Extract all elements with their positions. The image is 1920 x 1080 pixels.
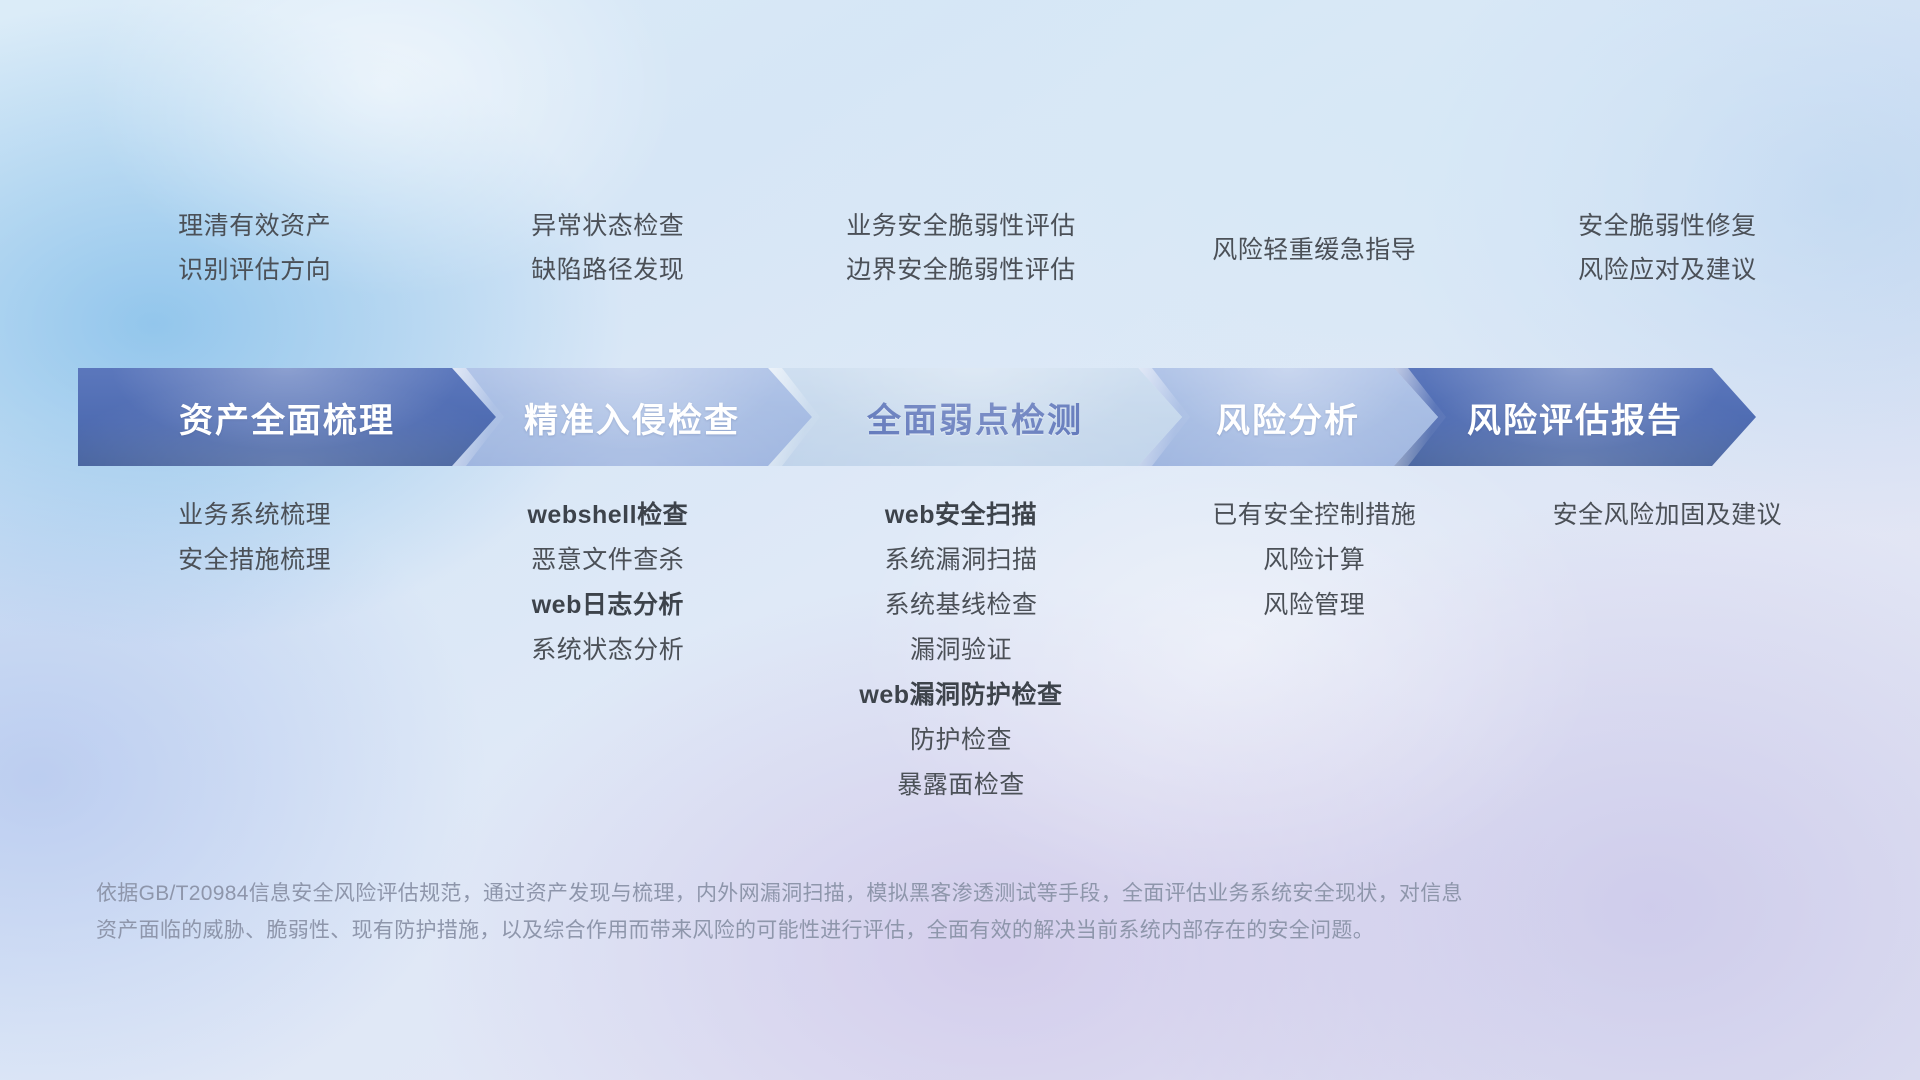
top-notes-risk-analysis: 风险轻重缓急指导 — [1138, 212, 1491, 285]
bottom-lists-row: 业务系统梳理 安全措施梳理 webshell检查 恶意文件查杀 web日志分析 … — [78, 500, 1844, 800]
chevron-stage-intrusion-check[interactable]: 精准入侵检查 — [452, 368, 812, 466]
list-item: 漏洞验证 — [910, 635, 1012, 665]
top-note: 异常状态检查 — [531, 212, 684, 242]
top-note: 业务安全脆弱性评估 — [846, 212, 1076, 242]
list-item: 系统基线检查 — [884, 590, 1037, 620]
top-note: 风险应对及建议 — [1578, 256, 1757, 286]
top-note: 理清有效资产 — [178, 212, 331, 242]
list-item: web日志分析 — [532, 590, 684, 620]
list-item: 已有安全控制措施 — [1212, 500, 1416, 530]
list-item: 系统状态分析 — [531, 635, 684, 665]
list-item: 安全措施梳理 — [178, 545, 331, 575]
top-notes-risk-report: 安全脆弱性修复 风险应对及建议 — [1491, 212, 1844, 285]
bottom-list-intrusion-check: webshell检查 恶意文件查杀 web日志分析 系统状态分析 — [431, 500, 784, 800]
top-notes-asset-inventory: 理清有效资产 识别评估方向 — [78, 212, 431, 285]
top-note: 安全脆弱性修复 — [1578, 212, 1757, 242]
top-note: 风险轻重缓急指导 — [1212, 236, 1416, 266]
list-item: webshell检查 — [527, 500, 688, 530]
chevron-stage-risk-analysis[interactable]: 风险分析 — [1138, 368, 1438, 466]
chevron-title: 精准入侵检查 — [524, 393, 740, 442]
list-item: web安全扫描 — [885, 500, 1037, 530]
list-item: 安全风险加固及建议 — [1553, 500, 1783, 530]
list-item: 风险管理 — [1263, 590, 1365, 620]
chevron-title: 风险分析 — [1216, 393, 1360, 442]
chevron-stage-asset-inventory[interactable]: 资产全面梳理 — [78, 368, 496, 466]
bottom-list-risk-report: 安全风险加固及建议 — [1491, 500, 1844, 800]
list-item: 恶意文件查杀 — [531, 545, 684, 575]
slide-content: 理清有效资产 识别评估方向 异常状态检查 缺陷路径发现 业务安全脆弱性评估 边界… — [0, 0, 1920, 1080]
bottom-list-risk-analysis: 已有安全控制措施 风险计算 风险管理 — [1138, 500, 1491, 800]
top-notes-intrusion-check: 异常状态检查 缺陷路径发现 — [431, 212, 784, 285]
top-note: 识别评估方向 — [178, 256, 331, 286]
chevron-title: 资产全面梳理 — [179, 393, 395, 442]
list-item: 系统漏洞扫描 — [884, 545, 1037, 575]
footer-line-2: 资产面临的威胁、脆弱性、现有防护措施，以及综合作用而带来风险的可能性进行评估，全… — [96, 913, 1736, 950]
list-item: web漏洞防护检查 — [859, 680, 1062, 710]
slide-root: 理清有效资产 识别评估方向 异常状态检查 缺陷路径发现 业务安全脆弱性评估 边界… — [0, 0, 1920, 1080]
top-note: 边界安全脆弱性评估 — [846, 256, 1076, 286]
top-note: 缺陷路径发现 — [531, 256, 684, 286]
footer-description: 依据GB/T20984信息安全风险评估规范，通过资产发现与梳理，内外网漏洞扫描，… — [96, 876, 1736, 950]
chevron-title: 全面弱点检测 — [867, 393, 1083, 442]
process-chevron-band: 资产全面梳理 精准入侵检查 全面弱点检测 风险分析 风险评估报告 — [78, 368, 1844, 466]
chevron-stage-weakness-detection[interactable]: 全面弱点检测 — [768, 368, 1182, 466]
bottom-list-weakness-detection: web安全扫描 系统漏洞扫描 系统基线检查 漏洞验证 web漏洞防护检查 防护检… — [784, 500, 1137, 800]
list-item: 防护检查 — [910, 725, 1012, 755]
chevron-title: 风险评估报告 — [1467, 393, 1683, 442]
top-notes-weakness-detection: 业务安全脆弱性评估 边界安全脆弱性评估 — [784, 212, 1137, 285]
list-item: 风险计算 — [1263, 545, 1365, 575]
top-notes-row: 理清有效资产 识别评估方向 异常状态检查 缺陷路径发现 业务安全脆弱性评估 边界… — [78, 212, 1844, 285]
chevron-stage-risk-report[interactable]: 风险评估报告 — [1394, 368, 1756, 466]
list-item: 业务系统梳理 — [178, 500, 331, 530]
bottom-list-asset-inventory: 业务系统梳理 安全措施梳理 — [78, 500, 431, 800]
list-item: 暴露面检查 — [897, 770, 1025, 800]
footer-line-1: 依据GB/T20984信息安全风险评估规范，通过资产发现与梳理，内外网漏洞扫描，… — [96, 876, 1736, 913]
